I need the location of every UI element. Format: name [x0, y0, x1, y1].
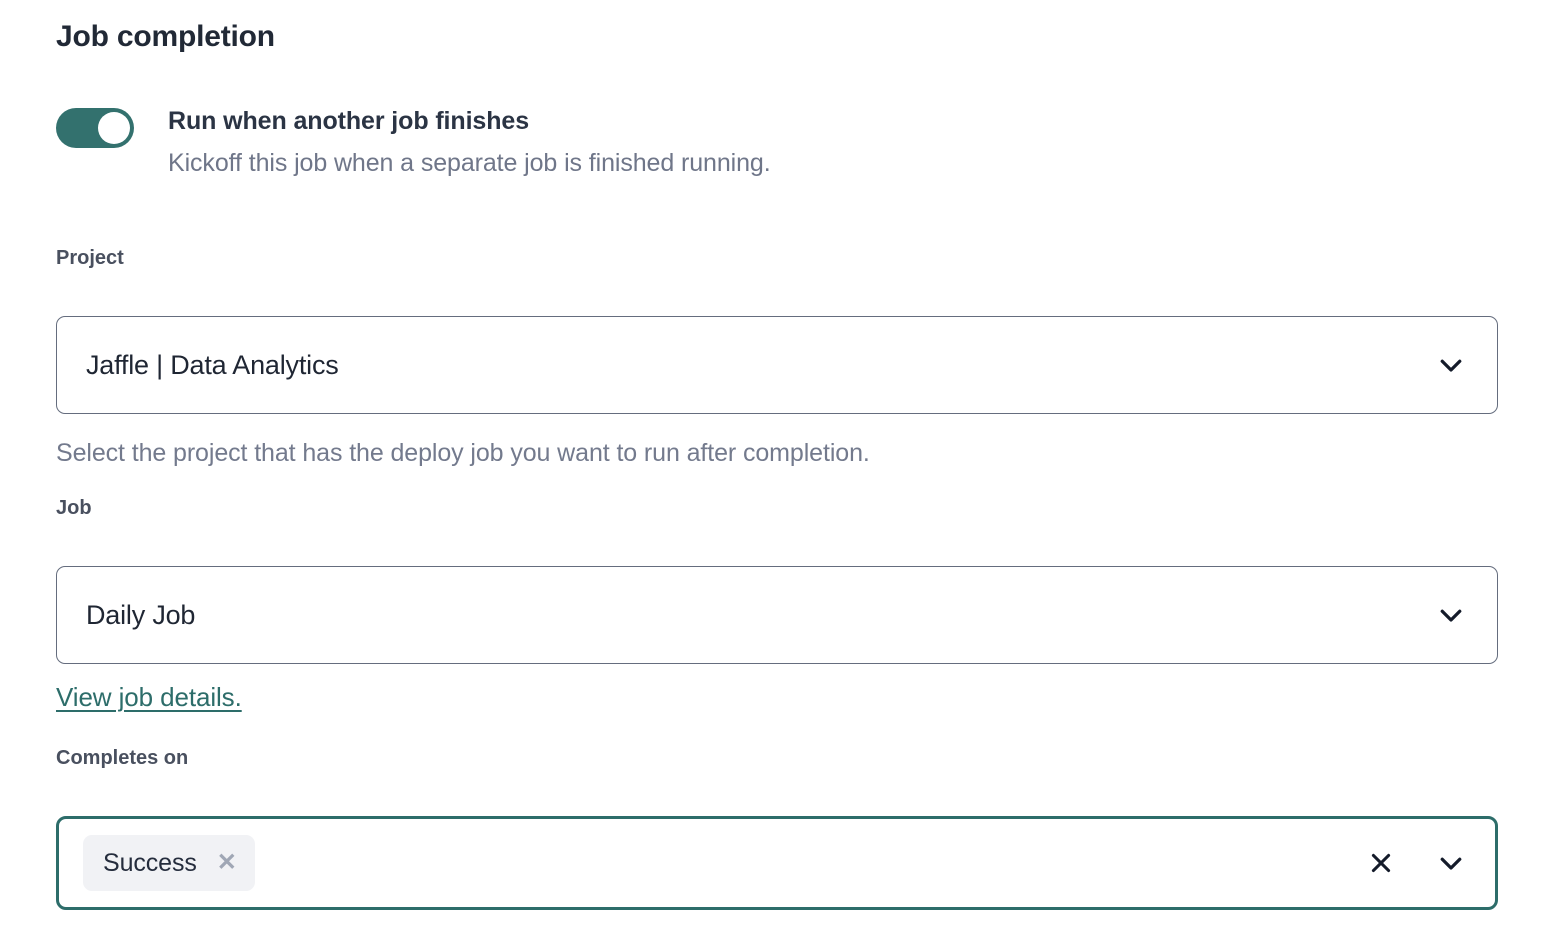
- close-icon[interactable]: ✕: [215, 851, 239, 875]
- toggle-label: Run when another job finishes: [168, 104, 1506, 138]
- toggle-text-block: Run when another job finishes Kickoff th…: [168, 104, 1506, 179]
- chip-label: Success: [103, 847, 197, 879]
- selected-chip-success: Success ✕: [83, 835, 255, 891]
- chevron-down-icon[interactable]: [1436, 848, 1466, 878]
- chevron-down-icon: [1436, 350, 1466, 380]
- view-job-details-link[interactable]: View job details.: [56, 680, 242, 714]
- run-when-another-job-finishes-row: Run when another job finishes Kickoff th…: [56, 104, 1506, 179]
- completes-on-label: Completes on: [56, 745, 1498, 771]
- job-link-row: View job details.: [56, 680, 1498, 714]
- page-title: Job completion: [56, 17, 275, 57]
- project-field-group: Project Jaffle | Data Analytics Select t…: [56, 245, 1498, 470]
- completes-on-multiselect[interactable]: Success ✕: [56, 816, 1498, 910]
- project-select-value: Jaffle | Data Analytics: [86, 348, 339, 382]
- job-select-value: Daily Job: [86, 598, 195, 632]
- job-completion-settings-panel: Job completion Run when another job fini…: [0, 0, 1564, 936]
- project-select[interactable]: Jaffle | Data Analytics: [56, 316, 1498, 414]
- toggle-knob: [98, 112, 130, 144]
- close-icon[interactable]: [1366, 848, 1396, 878]
- job-label: Job: [56, 495, 1498, 521]
- run-when-another-job-finishes-toggle[interactable]: [56, 108, 134, 148]
- chevron-down-icon: [1436, 600, 1466, 630]
- multiselect-actions: [1366, 848, 1466, 878]
- job-field-group: Job Daily Job View job details.: [56, 495, 1498, 714]
- job-select[interactable]: Daily Job: [56, 566, 1498, 664]
- toggle-description: Kickoff this job when a separate job is …: [168, 147, 1506, 179]
- completes-on-field-group: Completes on Success ✕: [56, 745, 1498, 910]
- project-label: Project: [56, 245, 1498, 271]
- project-help-text: Select the project that has the deploy j…: [56, 437, 1498, 470]
